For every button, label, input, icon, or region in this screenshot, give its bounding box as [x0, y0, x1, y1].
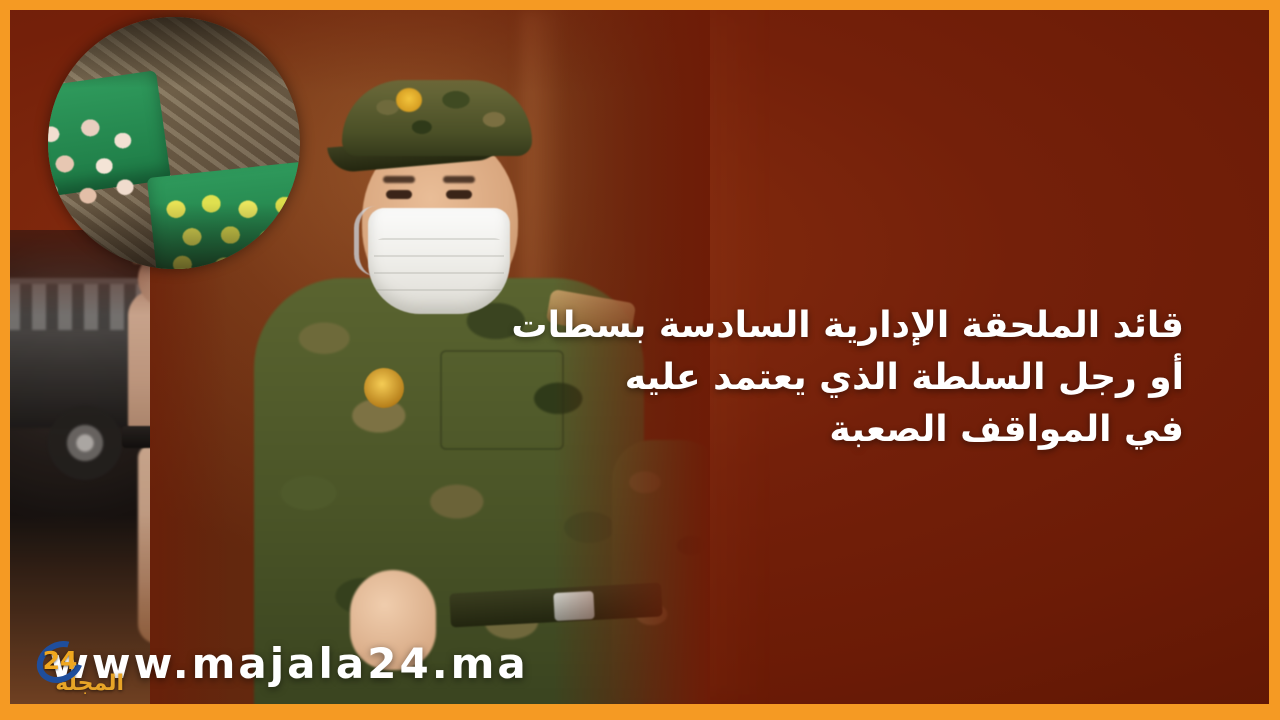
headline-line-1: قائد الملحقة الإدارية السادسة بسطات	[424, 300, 1184, 352]
photo-canvas: قائد الملحقة الإدارية السادسة بسطات أو ر…	[10, 10, 1269, 704]
headline-line-2: أو رجل السلطة الذي يعتمد عليه	[424, 352, 1184, 404]
frame-top	[0, 0, 1280, 10]
frame-left	[0, 0, 10, 720]
headline: قائد الملحقة الإدارية السادسة بسطات أو ر…	[424, 300, 1184, 455]
news-thumbnail-card: قائد الملحقة الإدارية السادسة بسطات أو ر…	[0, 0, 1280, 720]
frame-right	[1269, 0, 1280, 720]
inset-bottom-shadow	[48, 203, 300, 269]
logo-number: 24	[36, 646, 84, 676]
logo-badge: 24	[36, 642, 84, 682]
headline-line-3: في المواقف الصعبة	[424, 404, 1184, 456]
market-crates-inset	[48, 17, 300, 269]
inset-top-shadow	[48, 17, 300, 88]
frame-bottom	[0, 704, 1280, 720]
site-logo: المجلة 24	[18, 634, 126, 696]
